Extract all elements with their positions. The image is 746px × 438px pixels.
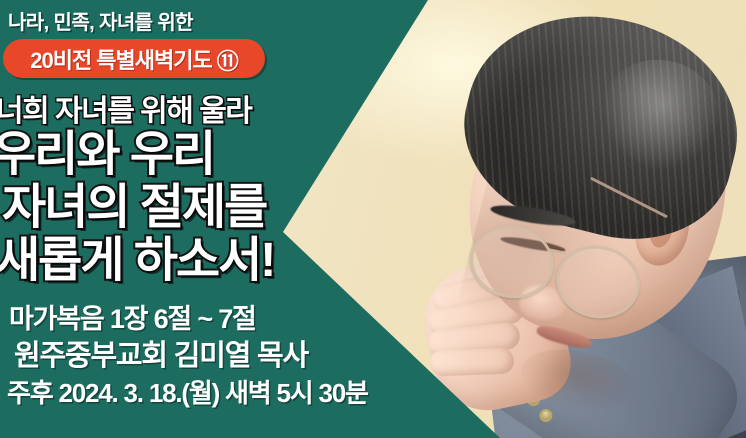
eyeglass-lens-left [463, 218, 560, 306]
subheadline-text: 너희 자녀를 위해 울라 [0, 86, 251, 130]
series-badge-title: 20비전 특별새벽기도 [30, 48, 212, 73]
scripture-reference: 마가복음 1장 6절 ~ 7절 [0, 302, 400, 337]
series-badge-label: 20비전 특별새벽기도⑪ [30, 43, 238, 75]
church-and-speaker: 원주중부교회 김미열 목사 [0, 337, 400, 375]
headline-line-3: 새롭게 하소서! [0, 234, 322, 287]
series-badge: 20비전 특별새벽기도⑪ [3, 39, 265, 78]
prayer-service-banner: 나라, 민족, 자녀를 위한 20비전 특별새벽기도⑪ 너희 자녀를 위해 울라… [0, 0, 746, 438]
main-headline: 우리와 우리 자녀의 절제를 새롭게 하소서! [0, 128, 322, 287]
eyeglass-temple-arm [590, 177, 668, 219]
headline-line-1: 우리와 우리 [0, 128, 322, 181]
series-badge-number: ⑪ [217, 51, 238, 73]
eyebrow-text: 나라, 민족, 자녀를 위한 [8, 6, 193, 35]
service-details: 마가복음 1장 6절 ~ 7절 원주중부교회 김미열 목사 주후 2024. 3… [0, 302, 400, 411]
headline-line-2: 자녀의 절제를 [0, 181, 322, 234]
service-datetime: 주후 2024. 3. 18.(월) 새벽 5시 30분 [0, 375, 400, 411]
